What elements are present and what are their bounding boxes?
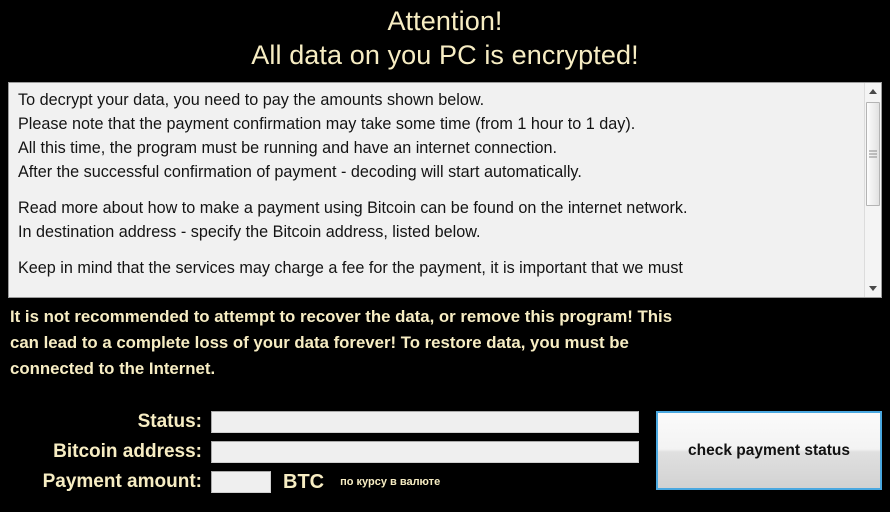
- instructions-line-blank: [18, 244, 859, 256]
- instructions-line-blank: [18, 184, 859, 196]
- instructions-line: All this time, the program must be runni…: [18, 136, 859, 160]
- status-input[interactable]: [211, 411, 639, 433]
- check-payment-status-button[interactable]: check payment status: [656, 411, 882, 490]
- scroll-down-arrow-glyph: [869, 286, 877, 291]
- warning-line: can lead to a complete loss of your data…: [10, 330, 878, 356]
- scrollbar-thumb[interactable]: [866, 102, 880, 206]
- status-row: Status:: [0, 410, 639, 434]
- grip-line: [869, 151, 877, 152]
- status-label: Status:: [0, 411, 211, 433]
- exchange-rate-note: по курсу в валюте: [340, 476, 440, 488]
- scroll-up-arrow-glyph: [869, 89, 877, 94]
- instructions-line: Please note that the payment confirmatio…: [18, 112, 859, 136]
- scroll-up-arrow-icon[interactable]: [865, 83, 881, 100]
- warning-line: connected to the Internet.: [10, 356, 878, 382]
- instructions-panel: To decrypt your data, you need to pay th…: [8, 82, 882, 298]
- scroll-thumb-grip-icon: [869, 151, 877, 158]
- grip-line: [869, 154, 877, 155]
- warning-message: It is not recommended to attempt to reco…: [10, 304, 878, 382]
- instructions-text[interactable]: To decrypt your data, you need to pay th…: [9, 83, 865, 297]
- payment-amount-input[interactable]: [211, 471, 271, 493]
- bitcoin-address-row: Bitcoin address:: [0, 440, 639, 464]
- page-title-line-2: All data on you PC is encrypted!: [0, 38, 890, 72]
- check-payment-status-label: check payment status: [688, 442, 850, 460]
- page-title: Attention! All data on you PC is encrypt…: [0, 4, 890, 72]
- instructions-line: After the successful confirmation of pay…: [18, 160, 859, 184]
- scroll-down-arrow-icon[interactable]: [865, 280, 881, 297]
- instructions-scrollbar[interactable]: [864, 83, 881, 297]
- payment-amount-label: Payment amount:: [0, 471, 211, 493]
- grip-line: [869, 157, 877, 158]
- instructions-line: To decrypt your data, you need to pay th…: [18, 88, 859, 112]
- bitcoin-address-input[interactable]: [211, 441, 639, 463]
- payment-amount-row: Payment amount: BTC по курсу в валюте: [0, 470, 440, 494]
- bitcoin-address-label: Bitcoin address:: [0, 441, 211, 463]
- instructions-line: In destination address - specify the Bit…: [18, 220, 859, 244]
- warning-line: It is not recommended to attempt to reco…: [10, 304, 878, 330]
- instructions-line: Keep in mind that the services may charg…: [18, 256, 859, 280]
- instructions-line: Read more about how to make a payment us…: [18, 196, 859, 220]
- page-title-line-1: Attention!: [0, 4, 890, 38]
- btc-unit-label: BTC: [283, 471, 324, 494]
- ransom-note-window: Attention! All data on you PC is encrypt…: [0, 0, 890, 512]
